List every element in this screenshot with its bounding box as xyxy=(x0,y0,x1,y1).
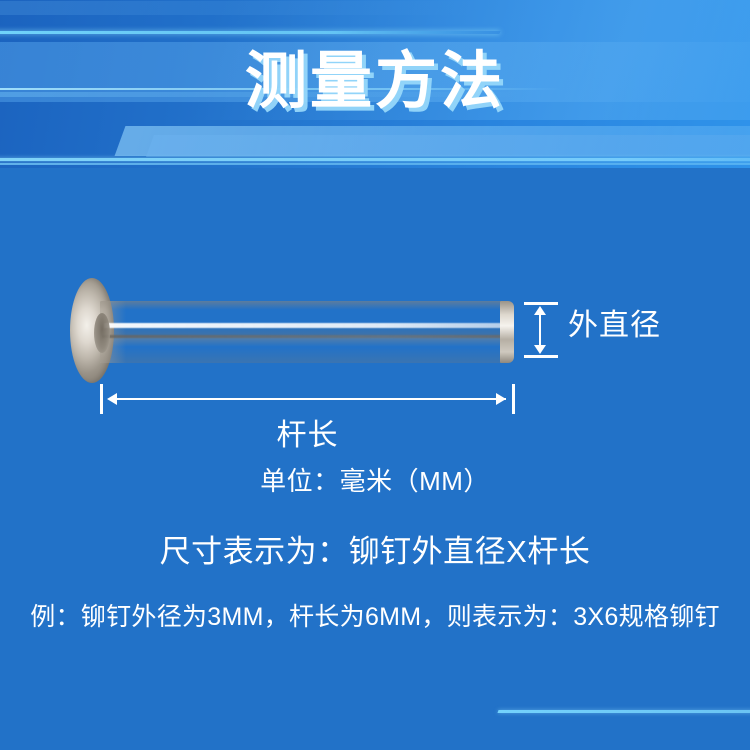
unit-note: 单位：毫米（MM） xyxy=(0,462,750,500)
rivet-shaft-end xyxy=(500,301,514,363)
outer-diameter-label: 外直径 xyxy=(568,305,661,347)
arrow-up-icon xyxy=(534,306,546,315)
arrow-left-icon xyxy=(107,393,117,405)
rivet-shaft-shadow-line xyxy=(102,335,506,338)
rivet-shaft-highlight xyxy=(104,323,504,328)
bottom-accent-streak xyxy=(497,710,750,713)
format-note: 尺寸表示为：铆钉外直径X杆长 xyxy=(0,530,750,574)
outer-diameter-cap-top xyxy=(524,302,558,305)
shaft-length-tick-right xyxy=(512,384,515,414)
arrow-down-icon xyxy=(534,345,546,354)
banner-streak-bright-2 xyxy=(0,163,750,165)
banner-streak-low xyxy=(0,1,483,15)
measurement-method-infographic: 测量方法 外直径 杆长 单位：毫米（MM） 尺寸表示为：铆钉外直径X杆长 例：铆… xyxy=(0,0,750,750)
shaft-length-line xyxy=(110,398,506,400)
page-title: 测量方法 xyxy=(0,44,750,120)
shaft-length-tick-left xyxy=(100,384,103,414)
header-banner: 测量方法 xyxy=(0,0,750,168)
banner-streak-bright xyxy=(0,158,750,161)
shaft-length-label: 杆长 xyxy=(0,415,615,457)
arrow-right-icon xyxy=(496,393,506,405)
banner-streak-wide-2 xyxy=(146,135,750,157)
banner-streak-top xyxy=(0,31,501,34)
outer-diameter-cap-bottom xyxy=(524,355,558,358)
rivet-shaft-shading xyxy=(100,301,512,363)
example-note: 例：铆钉外径为3MM，杆长为6MM，则表示为：3X6规格铆钉 xyxy=(0,598,750,636)
rivet-head-hole xyxy=(94,313,110,353)
